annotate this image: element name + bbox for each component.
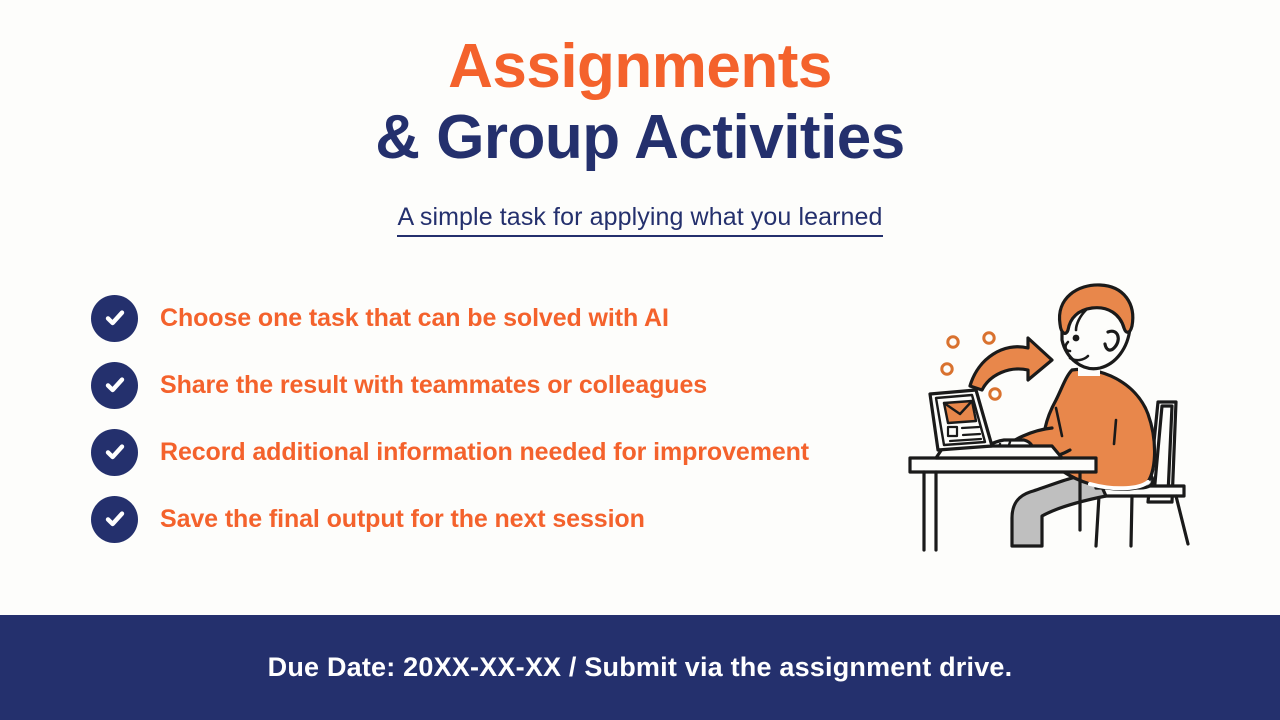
person-typing-on-laptop-illustration — [900, 278, 1200, 560]
title-line-2: & Group Activities — [0, 103, 1280, 172]
footer-bar: Due Date: 20XX-XX-XX / Submit via the as… — [0, 615, 1280, 720]
checklist: Choose one task that can be solved with … — [91, 293, 891, 561]
check-circle-icon — [91, 429, 138, 476]
list-item: Choose one task that can be solved with … — [91, 293, 891, 343]
check-circle-icon — [91, 496, 138, 543]
list-item-label: Share the result with teammates or colle… — [160, 371, 707, 400]
subtitle: A simple task for applying what you lear… — [0, 203, 1280, 237]
list-item-label: Save the final output for the next sessi… — [160, 505, 645, 534]
list-item: Record additional information needed for… — [91, 427, 891, 477]
check-circle-icon — [91, 295, 138, 342]
list-item-label: Record additional information needed for… — [160, 438, 809, 467]
footer-text: Due Date: 20XX-XX-XX / Submit via the as… — [268, 652, 1013, 683]
title-line-1: Assignments — [0, 34, 1280, 99]
list-item: Share the result with teammates or colle… — [91, 360, 891, 410]
check-circle-icon — [91, 362, 138, 409]
list-item-label: Choose one task that can be solved with … — [160, 304, 669, 333]
subtitle-text: A simple task for applying what you lear… — [397, 203, 882, 237]
list-item: Save the final output for the next sessi… — [91, 494, 891, 544]
slide-canvas: Assignments & Group Activities A simple … — [0, 0, 1280, 720]
page-title: Assignments & Group Activities — [0, 34, 1280, 173]
